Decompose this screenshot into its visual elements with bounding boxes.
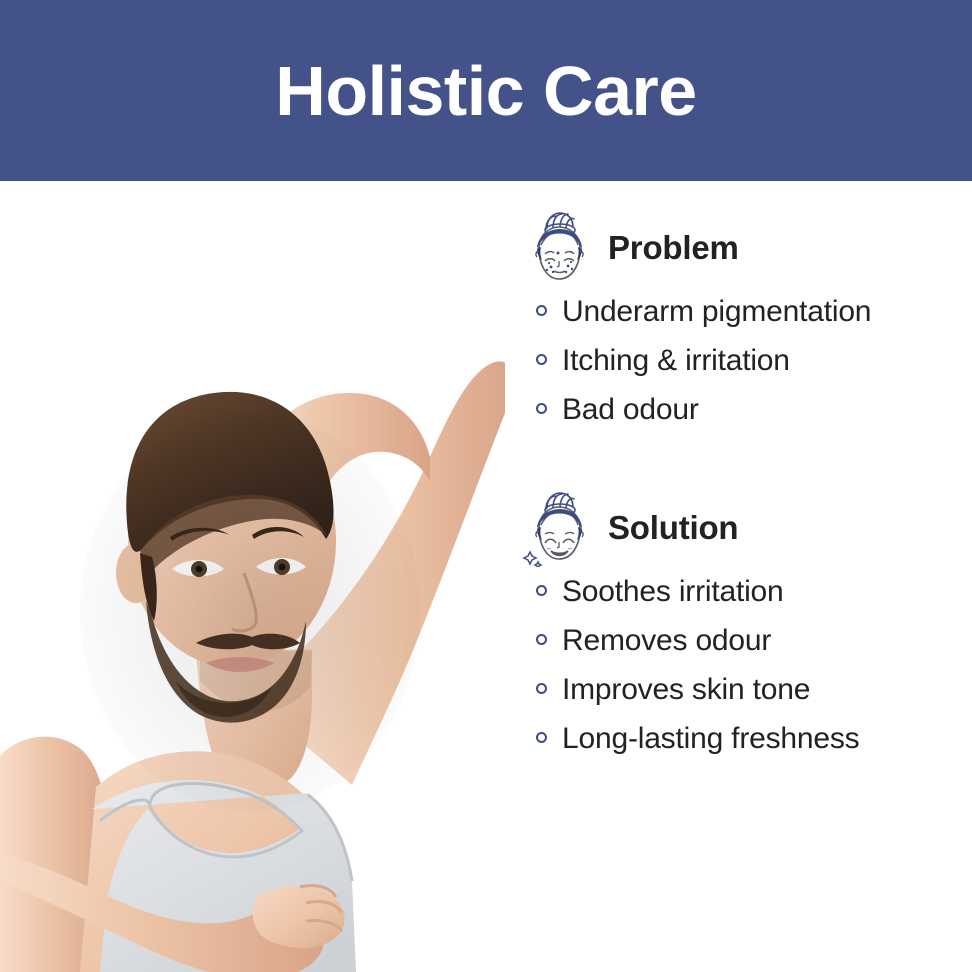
- list-item: Soothes irritation: [536, 575, 972, 624]
- bullet-dot-icon: [536, 634, 547, 645]
- problem-bullet-list: Underarm pigmentation Itching & irritati…: [512, 295, 972, 442]
- list-item-label: Bad odour: [562, 393, 699, 426]
- list-item: Bad odour: [536, 393, 972, 442]
- section-solution-title: Solution: [608, 509, 738, 547]
- bullet-dot-icon: [536, 354, 547, 365]
- list-item: Itching & irritation: [536, 344, 972, 393]
- list-item: Underarm pigmentation: [536, 295, 972, 344]
- happy-face-sparkles-icon: [522, 489, 594, 567]
- section-problem-title: Problem: [608, 229, 739, 267]
- bullet-dot-icon: [536, 305, 547, 316]
- section-solution-header: Solution: [512, 489, 972, 567]
- content-area: Problem Underarm pigmentation Itching & …: [0, 181, 972, 972]
- page-title: Holistic Care: [275, 56, 696, 126]
- hero-photo: [0, 181, 505, 972]
- section-problem: Problem Underarm pigmentation Itching & …: [512, 209, 972, 442]
- solution-bullet-list: Soothes irritation Removes odour Improve…: [512, 575, 972, 771]
- bullet-dot-icon: [536, 585, 547, 596]
- list-item-label: Removes odour: [562, 624, 771, 657]
- bullet-dot-icon: [536, 732, 547, 743]
- bullet-dot-icon: [536, 403, 547, 414]
- list-item-label: Itching & irritation: [562, 344, 790, 377]
- bullet-dot-icon: [536, 683, 547, 694]
- list-item: Improves skin tone: [536, 673, 972, 722]
- list-item-label: Underarm pigmentation: [562, 295, 871, 328]
- face-with-blemishes-icon: [522, 209, 594, 287]
- photo-man-underarm: [0, 181, 505, 972]
- list-item-label: Improves skin tone: [562, 673, 810, 706]
- list-item: Removes odour: [536, 624, 972, 673]
- header-banner: Holistic Care: [0, 0, 972, 181]
- list-item-label: Long-lasting freshness: [562, 722, 859, 755]
- infographic-page: Holistic Care: [0, 0, 972, 972]
- section-problem-header: Problem: [512, 209, 972, 287]
- list-item-label: Soothes irritation: [562, 575, 784, 608]
- feature-list-column: Problem Underarm pigmentation Itching & …: [512, 181, 972, 972]
- list-item: Long-lasting freshness: [536, 722, 972, 771]
- section-solution: Solution Soothes irritation Removes odou…: [512, 489, 972, 771]
